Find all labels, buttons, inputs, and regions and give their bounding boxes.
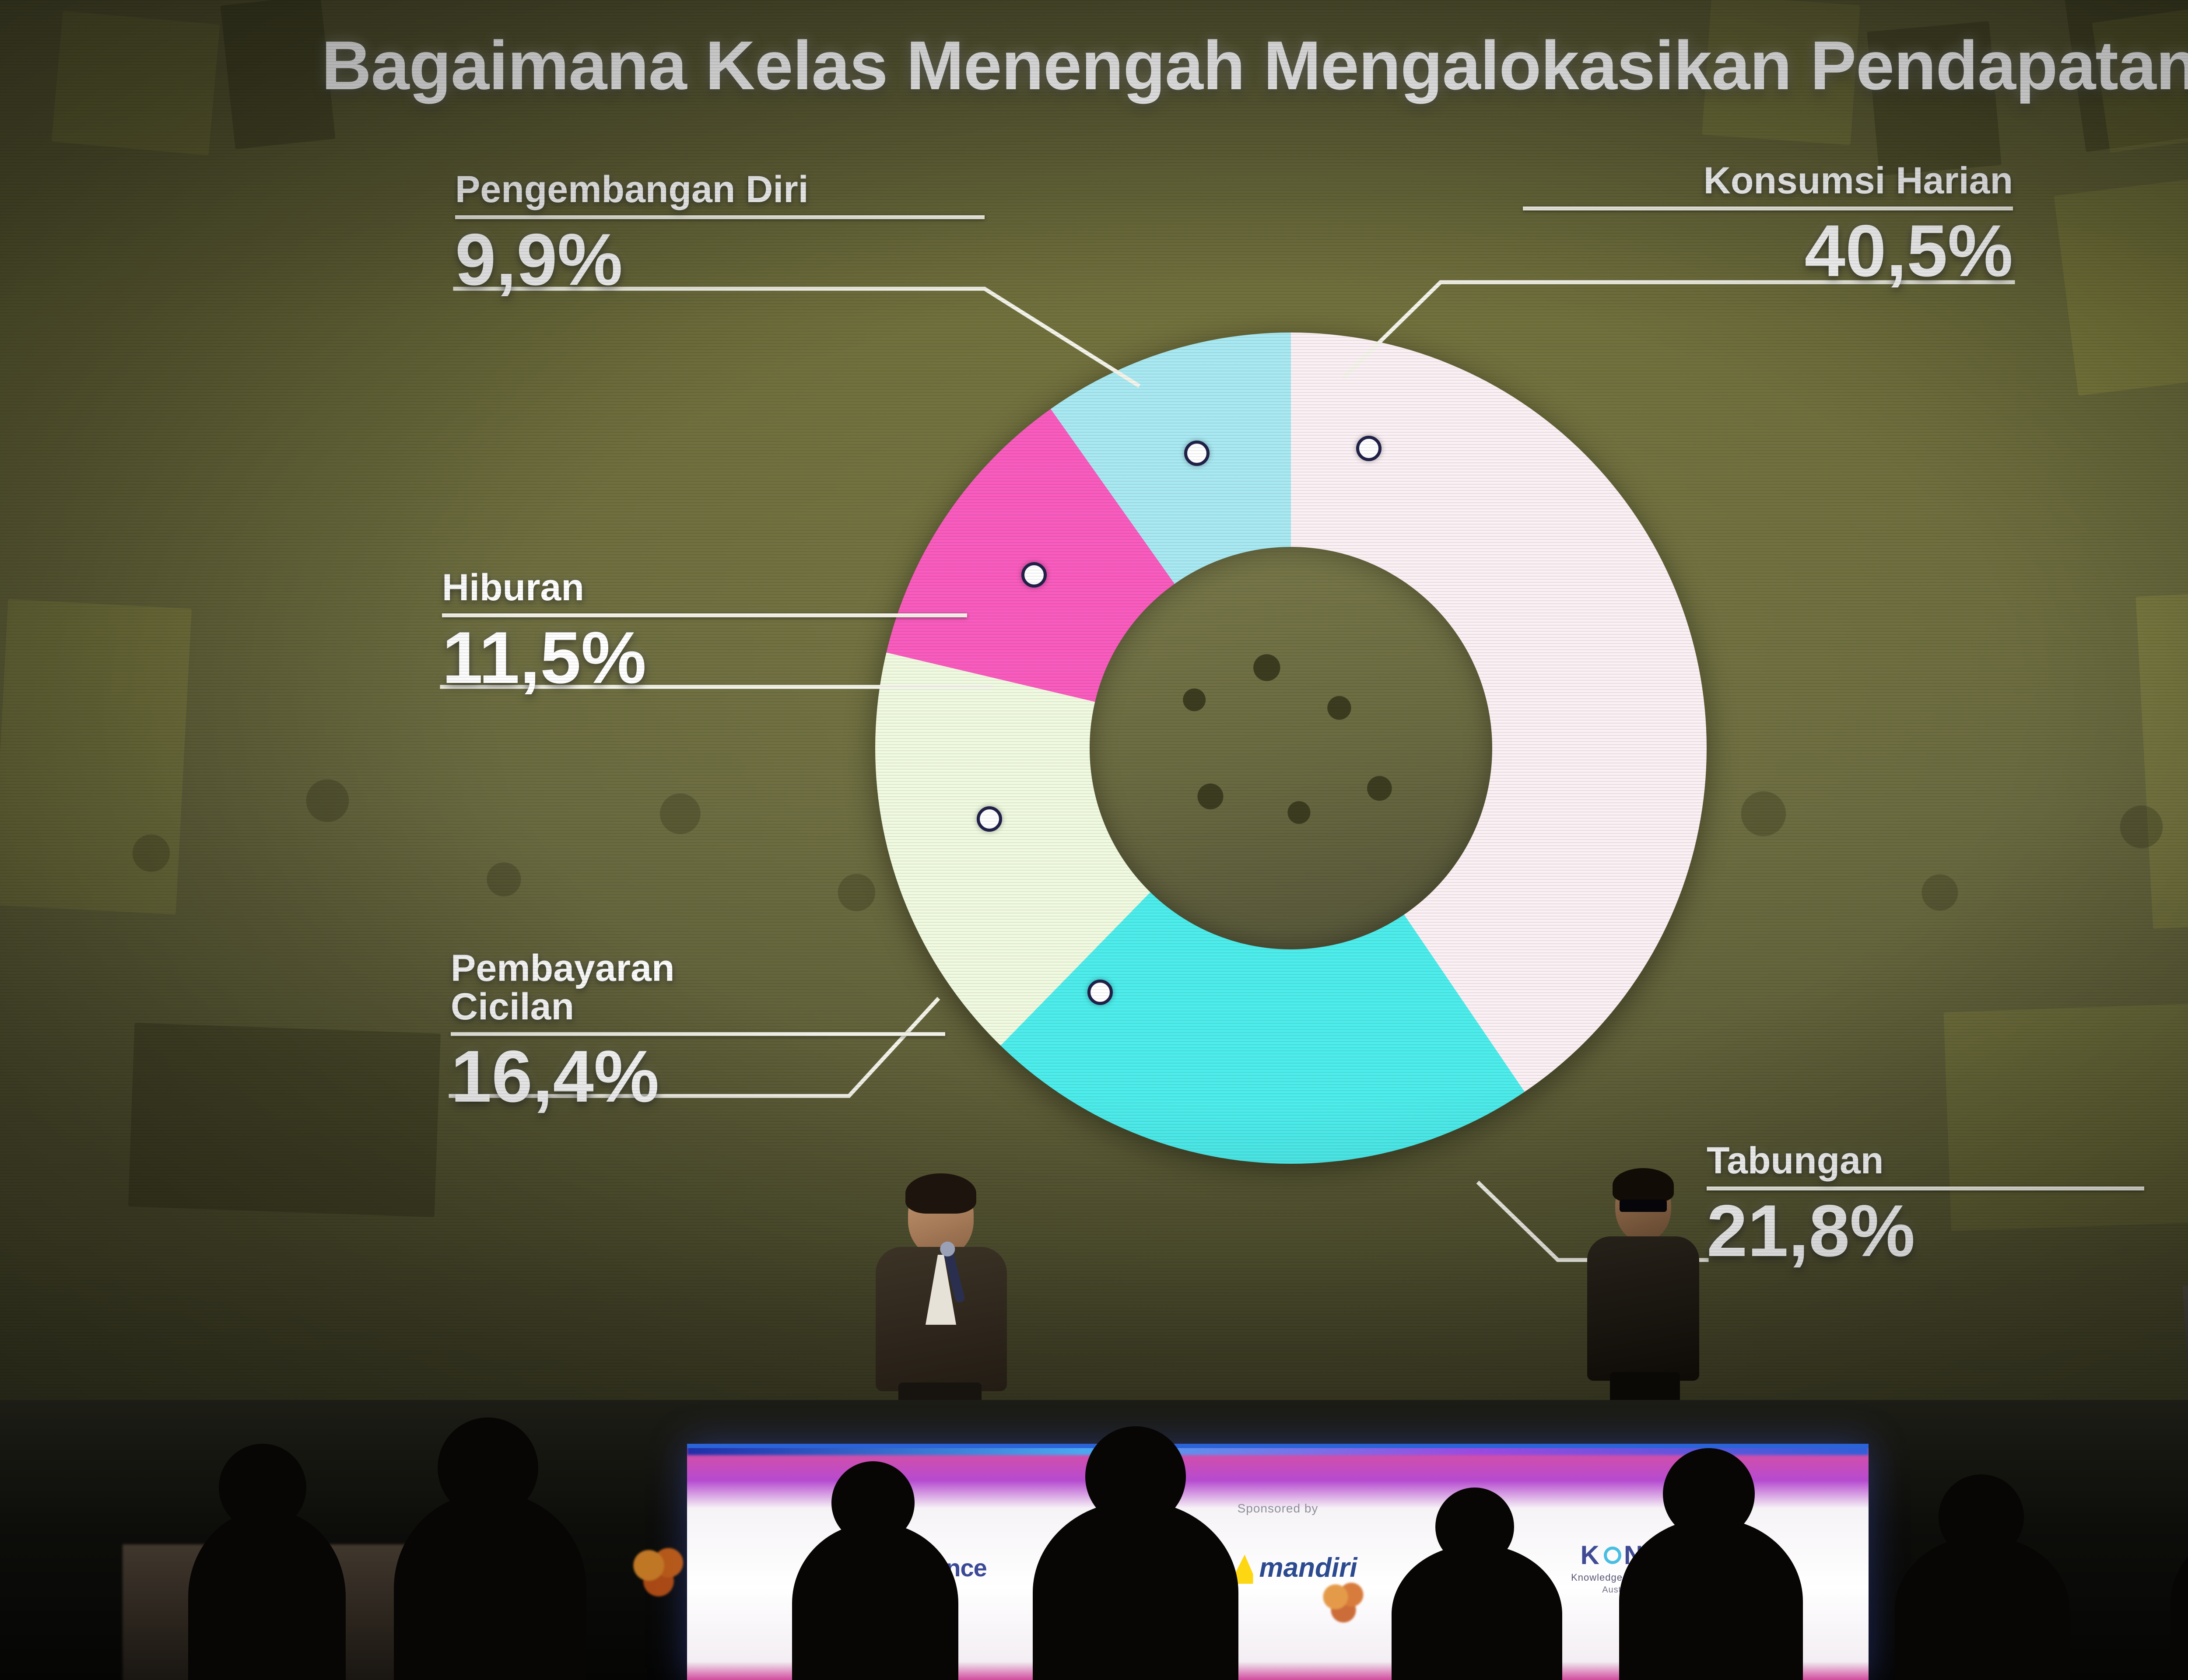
audience-shoulders — [188, 1509, 346, 1680]
screen-vignette — [0, 0, 2188, 1452]
audience-shoulders — [2170, 1522, 2188, 1680]
audience-shoulders — [1619, 1518, 1803, 1680]
projection-screen: Bagaimana Kelas Menengah Mengalokasikan … — [0, 0, 2188, 1452]
second-person-suit-jacket — [1587, 1236, 1699, 1381]
conference-stage-photo: Bagaimana Kelas Menengah Mengalokasikan … — [0, 0, 2188, 1680]
second-person-hair — [1613, 1168, 1674, 1202]
speaker-hair — [905, 1173, 976, 1214]
table-flower-arrangement-2 — [1317, 1579, 1370, 1623]
table-flower-arrangement — [626, 1544, 691, 1597]
audience-shoulders — [792, 1522, 958, 1680]
sunglasses-icon — [1620, 1200, 1667, 1212]
audience-shoulders — [1895, 1536, 2070, 1680]
audience-shoulders — [394, 1492, 586, 1680]
audience-shoulders — [1392, 1544, 1562, 1680]
audience-shoulders — [1033, 1501, 1238, 1680]
audience-foreground — [0, 1400, 2188, 1680]
